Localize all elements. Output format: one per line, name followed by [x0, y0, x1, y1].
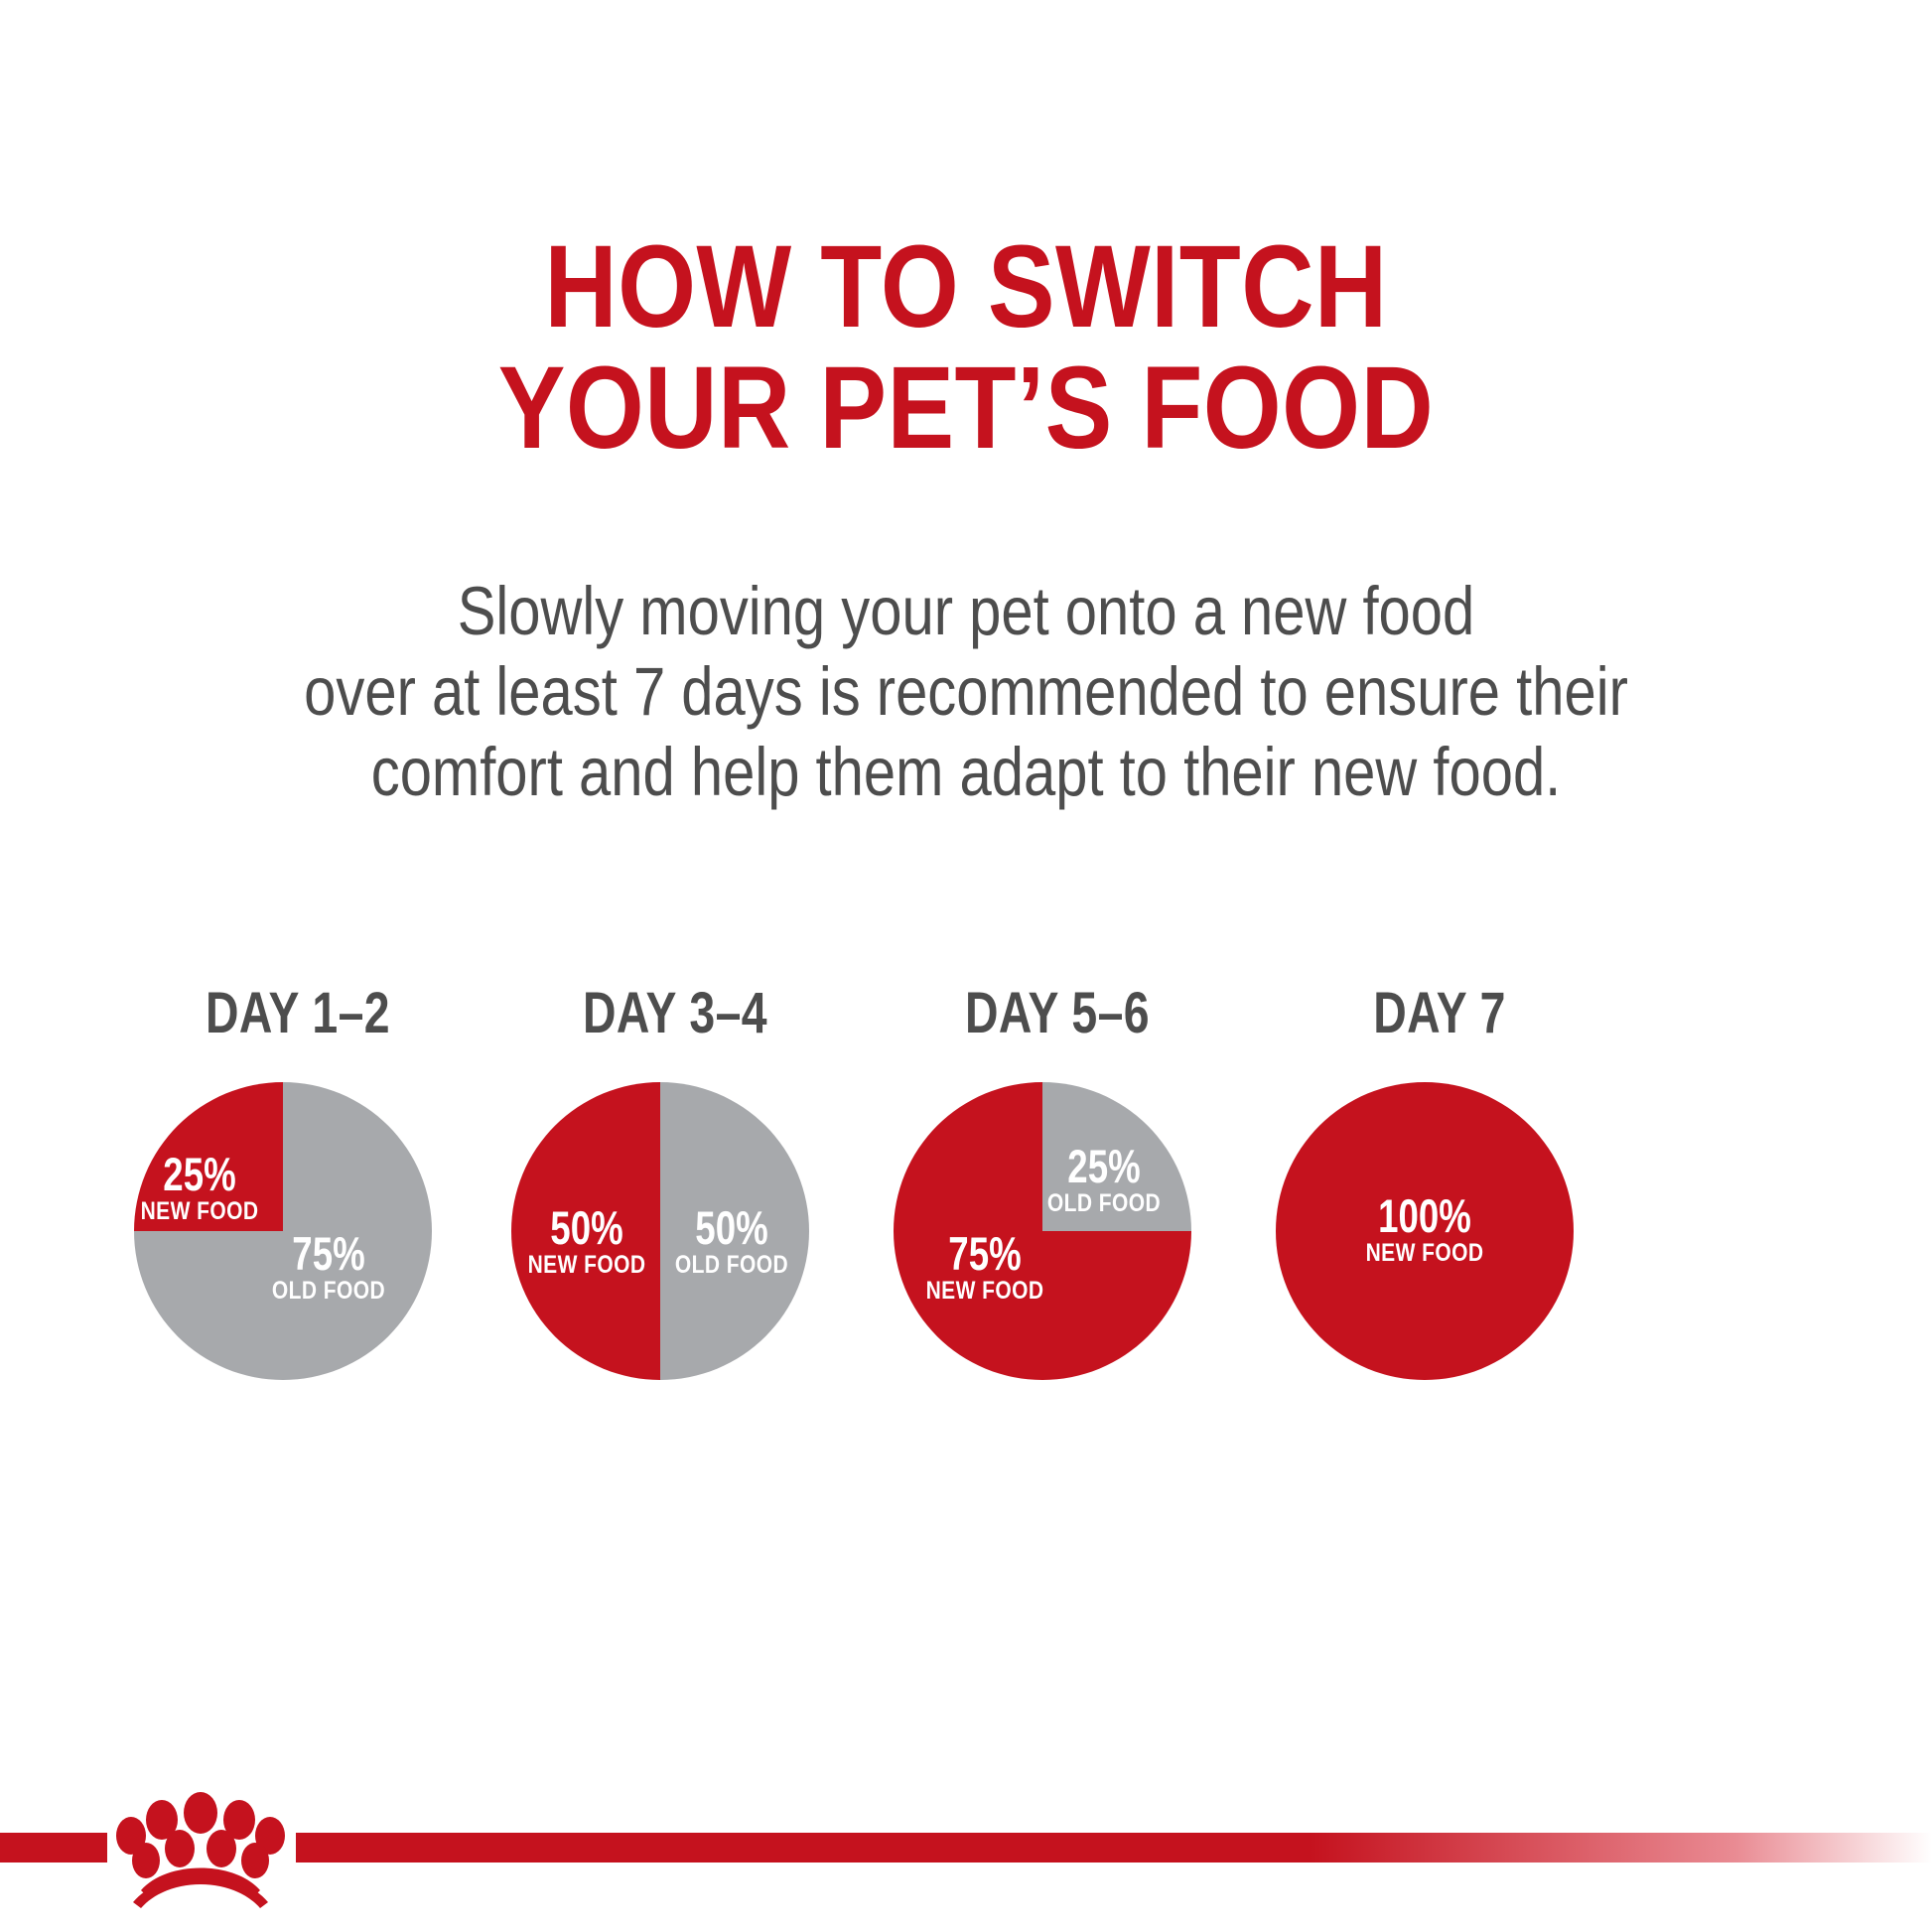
day-label-3: DAY 7 — [1289, 983, 1590, 1044]
pie-chart-day-1-2: DAY 1–2 25%NEW FOOD75%OLD FOOD — [109, 983, 486, 1400]
page-title-line-2: YOUR PET’S FOOD — [135, 347, 1797, 469]
pie-graphic-3: 100%NEW FOOD — [1276, 1082, 1574, 1380]
footer-bar-left — [0, 1833, 107, 1863]
footer-bar-right — [296, 1833, 1932, 1863]
pie-svg-3 — [1276, 1082, 1574, 1380]
pie-graphic-0: 25%NEW FOOD75%OLD FOOD — [134, 1082, 432, 1380]
pie-slice-old-food — [1042, 1082, 1191, 1231]
pie-graphic-1: 50%NEW FOOD50%OLD FOOD — [511, 1082, 809, 1380]
pie-slice-old-food — [660, 1082, 809, 1380]
footer — [0, 1773, 1932, 1932]
day-label-1: DAY 3–4 — [524, 983, 826, 1044]
intro-paragraph: Slowly moving your pet onto a new food o… — [0, 571, 1932, 812]
pie-slice-new-food — [511, 1082, 660, 1380]
pie-slice-new-food — [1276, 1082, 1574, 1380]
intro-line-3: comfort and help them adapt to their new… — [155, 732, 1778, 812]
intro-line-2: over at least 7 days is recommended to e… — [155, 651, 1778, 732]
pie-slice-new-food — [134, 1082, 283, 1231]
pie-graphic-2: 25%OLD FOOD75%NEW FOOD — [894, 1082, 1191, 1380]
pie-svg-0 — [134, 1082, 432, 1380]
pie-chart-day-5-6: DAY 5–6 25%OLD FOOD75%NEW FOOD — [869, 983, 1246, 1400]
day-label-2: DAY 5–6 — [906, 983, 1208, 1044]
pie-chart-day-7: DAY 7 100%NEW FOOD — [1251, 983, 1628, 1400]
pie-svg-2 — [894, 1082, 1191, 1380]
page-title: HOW TO SWITCH YOUR PET’S FOOD — [0, 226, 1932, 469]
intro-line-1: Slowly moving your pet onto a new food — [155, 571, 1778, 651]
pie-chart-row: DAY 1–2 25%NEW FOOD75%OLD FOOD DAY 3–4 5… — [109, 983, 1827, 1400]
day-label-0: DAY 1–2 — [147, 983, 449, 1044]
royal-canin-crown-logo-icon — [111, 1791, 290, 1910]
page-title-line-1: HOW TO SWITCH — [135, 226, 1797, 347]
pie-chart-day-3-4: DAY 3–4 50%NEW FOOD50%OLD FOOD — [486, 983, 864, 1400]
pie-svg-1 — [511, 1082, 809, 1380]
